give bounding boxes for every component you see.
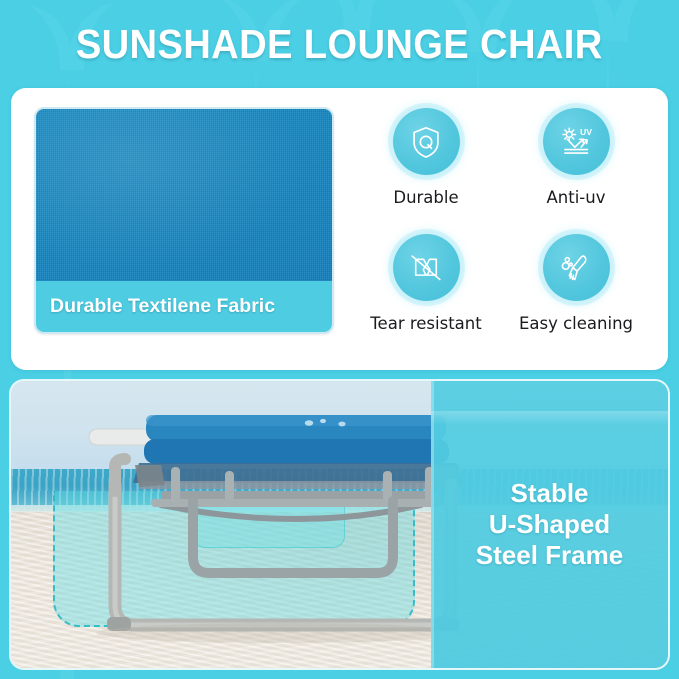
anti-uv-sun-icon: UV — [557, 123, 595, 161]
tear-resistant-badge — [393, 234, 460, 301]
fabric-texture — [36, 109, 332, 285]
shield-quality-icon — [407, 123, 445, 161]
product-photo-panel: Stable U-Shaped Steel Frame — [11, 381, 668, 668]
durable-badge — [393, 108, 460, 175]
feature-easy-cleaning[interactable]: Easy cleaning — [501, 228, 651, 354]
svg-text:UV: UV — [580, 126, 592, 136]
feature-label-easy-cleaning: Easy cleaning — [519, 314, 633, 333]
feature-grid: Durable UV — [351, 102, 651, 354]
page-title: SUNSHADE LOUNGE CHAIR — [76, 21, 603, 68]
feature-label-tear-resistant: Tear resistant — [370, 314, 481, 333]
callout-line-1: Stable — [510, 478, 588, 509]
feature-durable[interactable]: Durable — [351, 102, 501, 228]
easy-cleaning-brush-icon — [557, 249, 595, 287]
callout-line-3: Steel Frame — [476, 540, 623, 571]
tear-resistant-icon — [407, 249, 445, 287]
fabric-caption-label: Durable Textilene Fabric — [36, 295, 275, 318]
title-bar: SUNSHADE LOUNGE CHAIR — [0, 0, 679, 88]
feature-tear-resistant[interactable]: Tear resistant — [351, 228, 501, 354]
feature-label-durable: Durable — [393, 188, 458, 207]
feature-card: Durable Textilene Fabric Durable — [11, 88, 668, 370]
callout-line-2: U-Shaped — [489, 509, 610, 540]
anti-uv-badge: UV — [543, 108, 610, 175]
easy-cleaning-badge — [543, 234, 610, 301]
product-infographic: SUNSHADE LOUNGE CHAIR Durable Textilene … — [0, 0, 679, 679]
feature-anti-uv[interactable]: UV Anti-uv — [501, 102, 651, 228]
feature-label-anti-uv: Anti-uv — [547, 188, 606, 207]
fabric-swatch: Durable Textilene Fabric — [34, 107, 334, 334]
steel-frame-callout: Stable U-Shaped Steel Frame — [431, 381, 668, 668]
fabric-caption-bar: Durable Textilene Fabric — [36, 281, 332, 332]
